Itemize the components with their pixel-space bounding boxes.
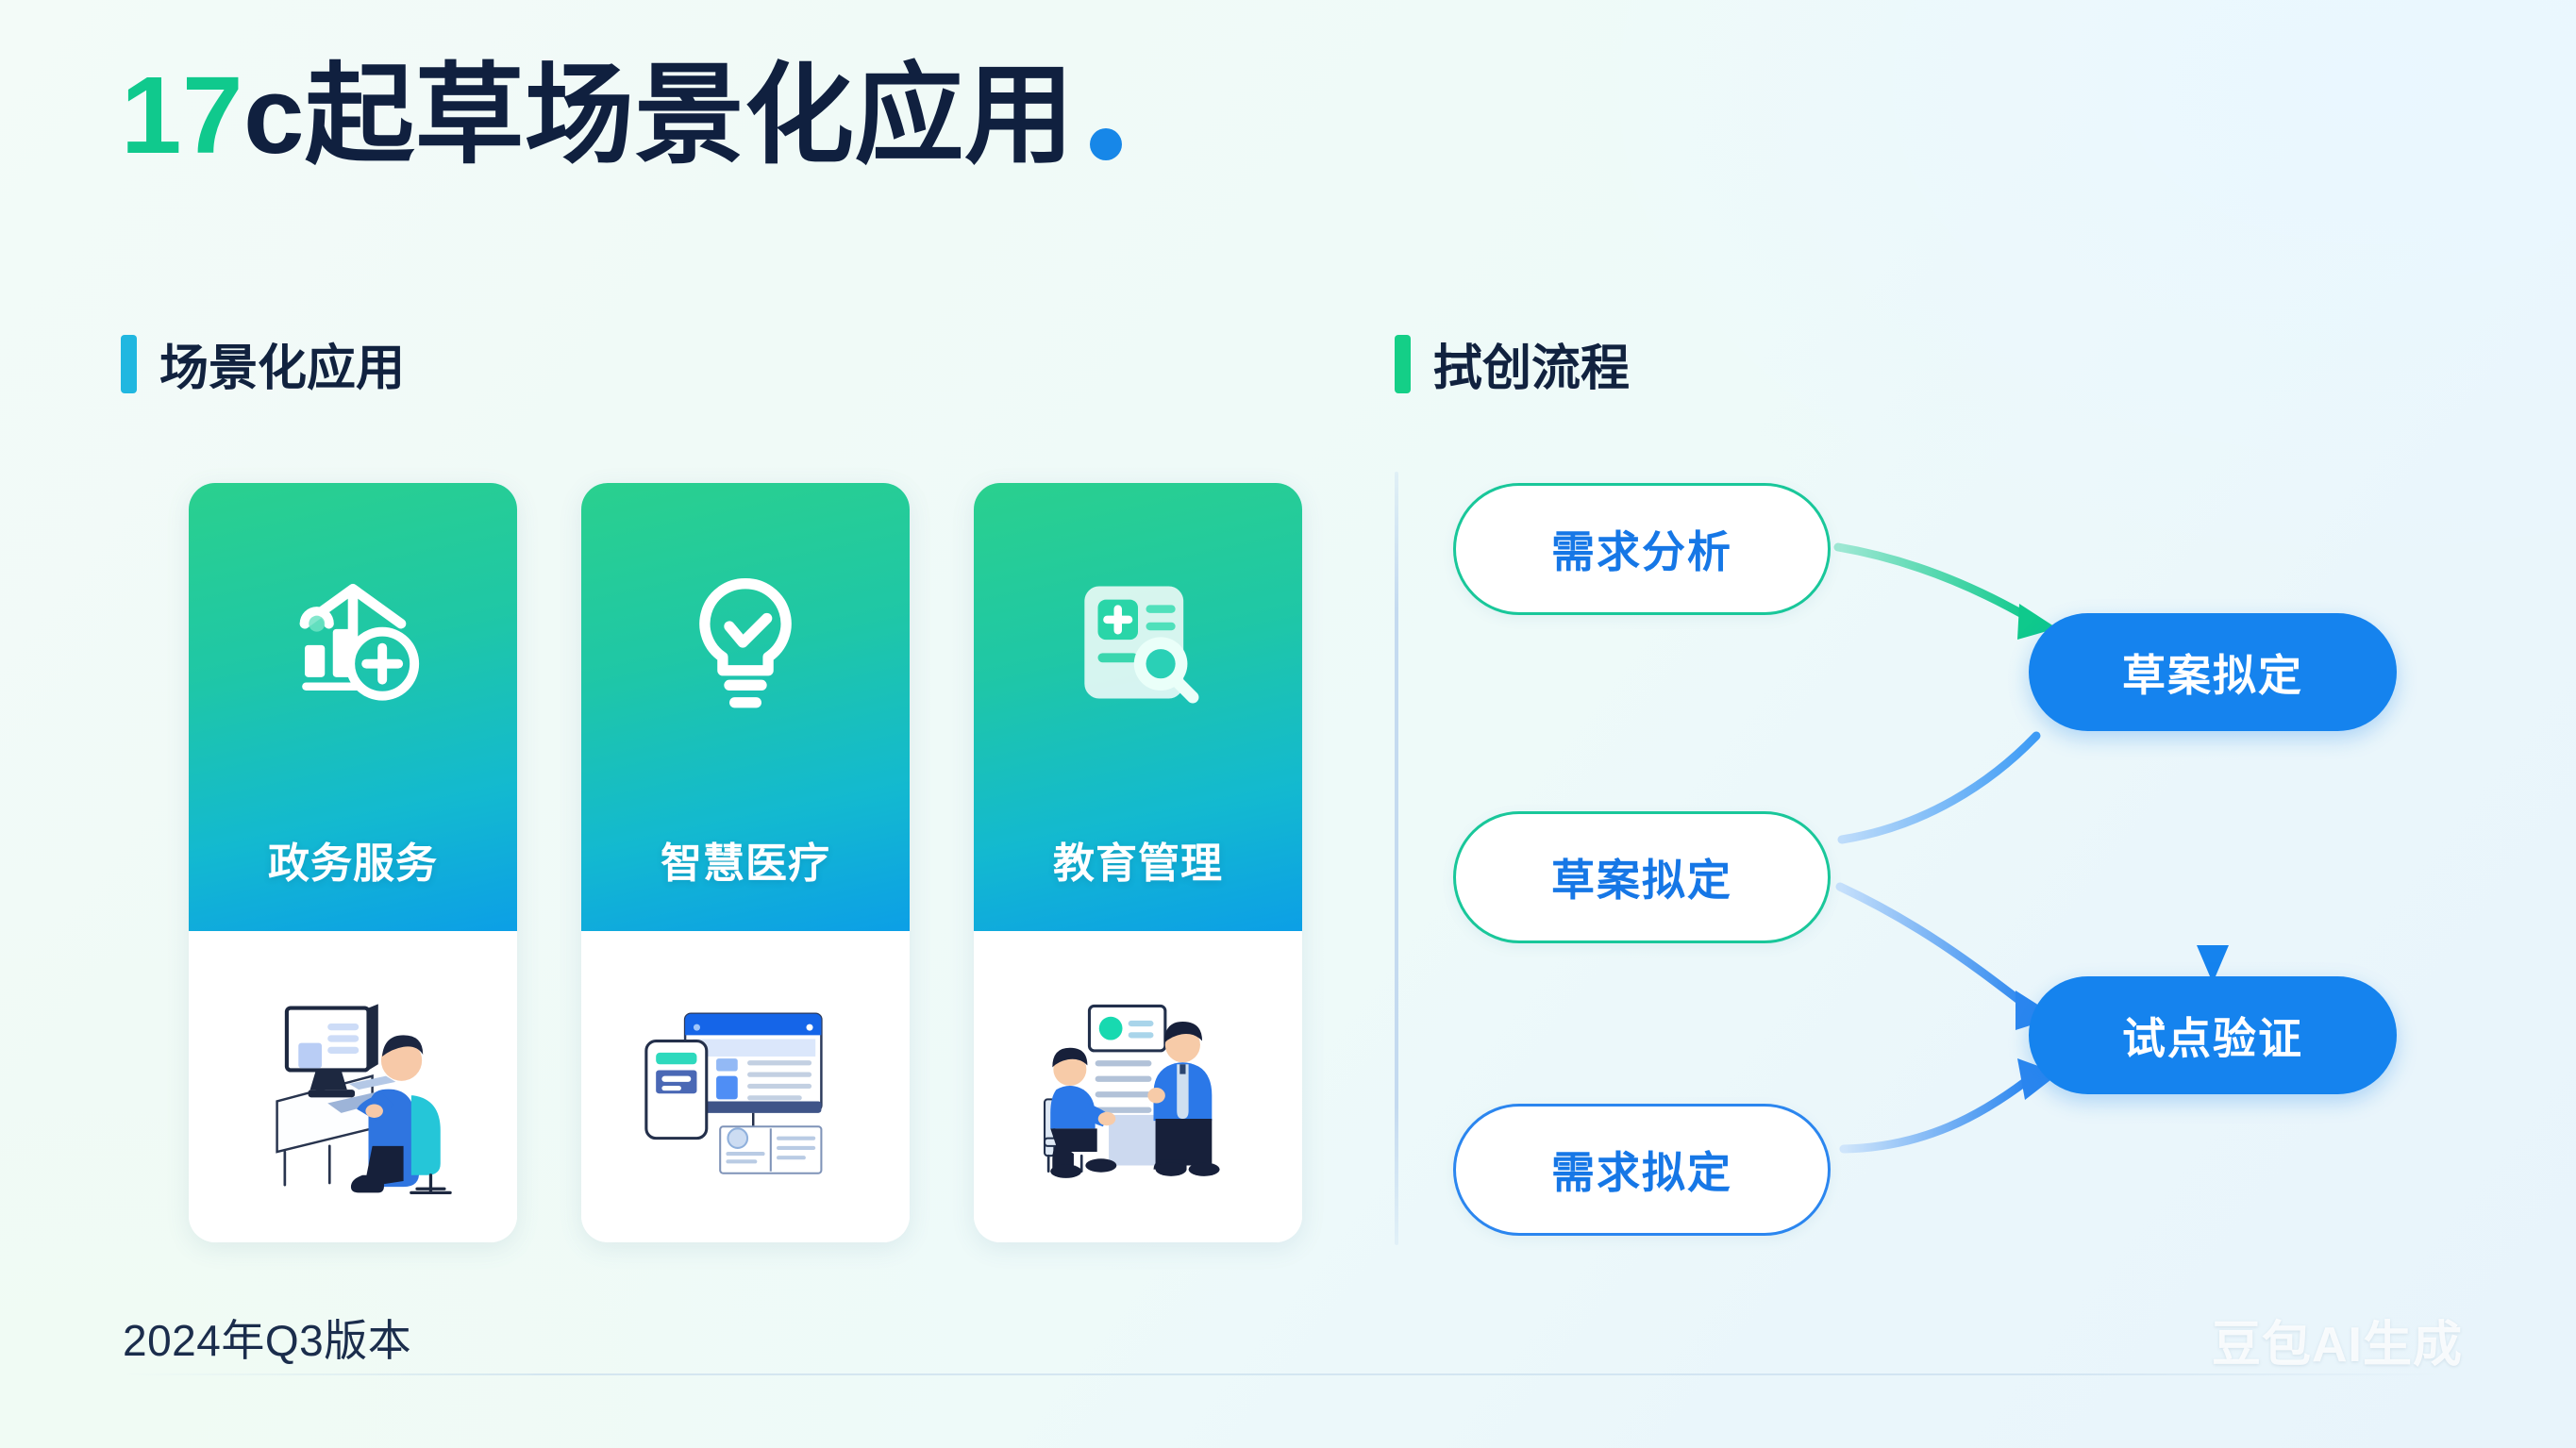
title-main: c起草场景化应用 bbox=[243, 54, 1075, 176]
flow-node-outline[interactable]: 需求拟定 bbox=[1453, 1104, 1831, 1236]
process-flow-diagram: 需求分析 草案拟定 需求拟定 草案拟定 试点验证 bbox=[1453, 462, 2453, 1255]
slide-canvas: 17c起草场景化应用 场景化应用 拭创流程 bbox=[0, 0, 2576, 1448]
flow-node-filled[interactable]: 草案拟定 bbox=[2029, 613, 2397, 731]
scenario-card[interactable]: 政务服务 bbox=[189, 483, 517, 1242]
section-title-right: 拭创流程 bbox=[1433, 328, 1630, 399]
scenario-card[interactable]: 智慧医疗 bbox=[581, 483, 910, 1242]
version-label: 2024年Q3版本 bbox=[123, 1307, 411, 1369]
flow-node-outline[interactable]: 草案拟定 bbox=[1453, 811, 1831, 943]
section-header-right: 拭创流程 bbox=[1395, 328, 1630, 399]
scenario-card[interactable]: 教育管理 bbox=[974, 483, 1302, 1242]
card-illustration-area bbox=[581, 931, 910, 1242]
card-label: 智慧医疗 bbox=[581, 829, 910, 890]
flow-node-outline[interactable]: 需求分析 bbox=[1453, 483, 1831, 615]
flow-node-filled[interactable]: 试点验证 bbox=[2029, 976, 2397, 1094]
card-label: 教育管理 bbox=[974, 829, 1302, 890]
card-header: 教育管理 bbox=[974, 483, 1302, 931]
browser-mobile-card-illustration bbox=[619, 974, 872, 1200]
title-number: 17 bbox=[121, 54, 243, 176]
card-label: 政务服务 bbox=[189, 829, 517, 890]
section-header-left: 场景化应用 bbox=[121, 328, 405, 399]
vertical-divider bbox=[1395, 472, 1398, 1245]
footer-divider bbox=[121, 1373, 2455, 1375]
section-bar-left-icon bbox=[121, 335, 137, 393]
card-header: 智慧医疗 bbox=[581, 483, 910, 931]
card-illustration-area bbox=[189, 931, 517, 1242]
page-title: 17c起草场景化应用 bbox=[121, 58, 1122, 174]
card-illustration-area bbox=[974, 931, 1302, 1242]
title-text: 17c起草场景化应用 bbox=[121, 58, 1075, 174]
section-title-left: 场景化应用 bbox=[159, 328, 405, 399]
scenario-card-list: 政务服务 bbox=[189, 483, 1302, 1242]
section-bar-right-icon bbox=[1395, 335, 1411, 393]
title-dot-icon bbox=[1090, 128, 1122, 160]
card-header: 政务服务 bbox=[189, 483, 517, 931]
person-at-desk-illustration bbox=[226, 974, 479, 1200]
document-calculator-search-icon bbox=[1058, 562, 1218, 723]
lightbulb-check-icon bbox=[665, 562, 826, 723]
house-bar-chart-plus-icon bbox=[273, 562, 433, 723]
two-people-consulting-illustration bbox=[1012, 974, 1264, 1200]
watermark-label: 豆包AI生成 bbox=[2212, 1305, 2463, 1375]
